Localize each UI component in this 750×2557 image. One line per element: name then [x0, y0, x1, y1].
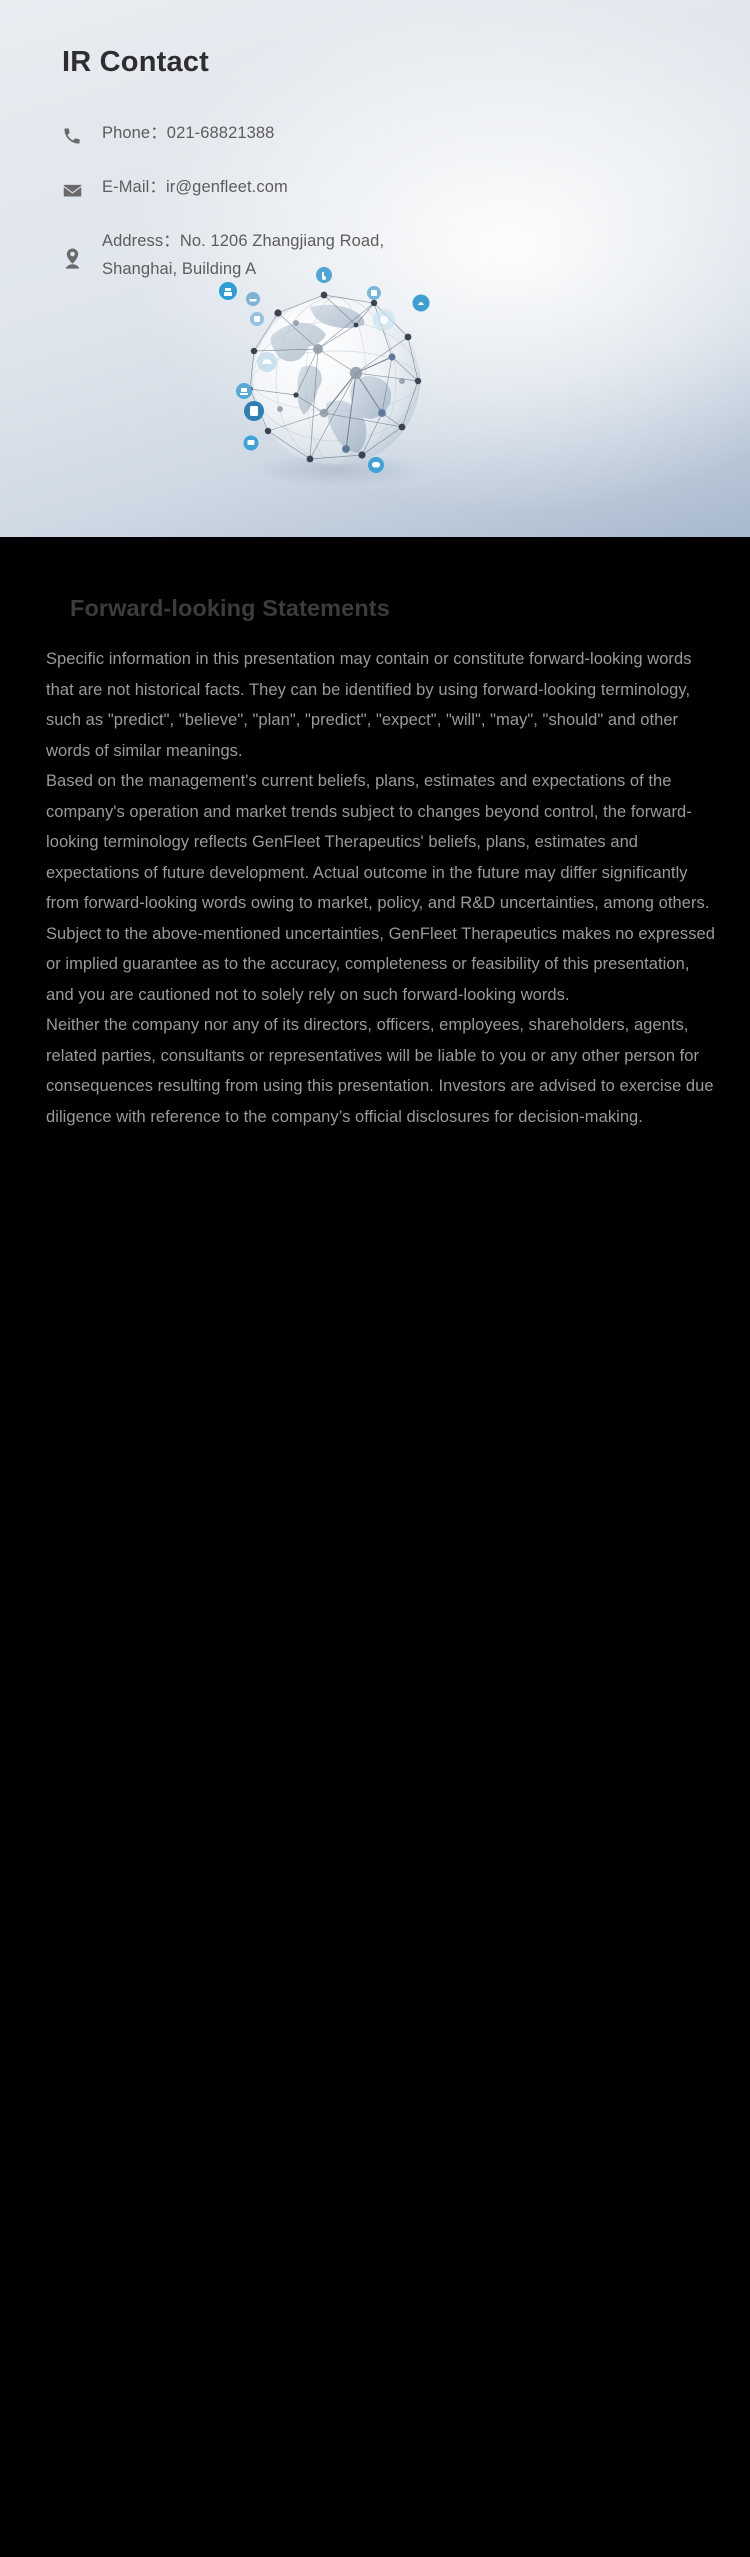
ir-contact-section: IR Contact Phone：021-68821388 E-Mail：ir@…	[0, 0, 750, 537]
forward-looking-title: Forward-looking Statements	[70, 595, 390, 622]
forward-looking-paragraph: Based on the management's current belief…	[46, 766, 720, 919]
contact-email-text: E-Mail：ir@genfleet.com	[96, 173, 288, 201]
forward-looking-statements-section: Forward-looking Statements Specific info…	[0, 537, 750, 2557]
location-pin-icon	[62, 243, 96, 273]
forward-looking-paragraph: Subject to the above-mentioned uncertain…	[46, 919, 720, 1011]
phone-icon	[62, 121, 96, 151]
forward-looking-paragraph: Specific information in this presentatio…	[46, 644, 720, 766]
contact-phone-text: Phone：021-68821388	[96, 119, 274, 147]
forward-looking-body: Specific information in this presentatio…	[0, 622, 750, 1132]
globe-network-illustration	[206, 263, 466, 513]
contact-address-text: Address：No. 1206 Zhangjiang Road, Shangh…	[96, 227, 402, 283]
contact-row-address[interactable]: Address：No. 1206 Zhangjiang Road, Shangh…	[62, 227, 750, 283]
contact-row-email[interactable]: E-Mail：ir@genfleet.com	[62, 173, 750, 205]
two-tone-square-bullet-icon	[46, 600, 61, 617]
forward-looking-heading: Forward-looking Statements	[0, 537, 750, 622]
page-title: IR Contact	[62, 46, 750, 79]
forward-looking-paragraph: Neither the company nor any of its direc…	[46, 1010, 720, 1132]
envelope-icon	[62, 175, 96, 205]
contact-row-phone[interactable]: Phone：021-68821388	[62, 119, 750, 151]
